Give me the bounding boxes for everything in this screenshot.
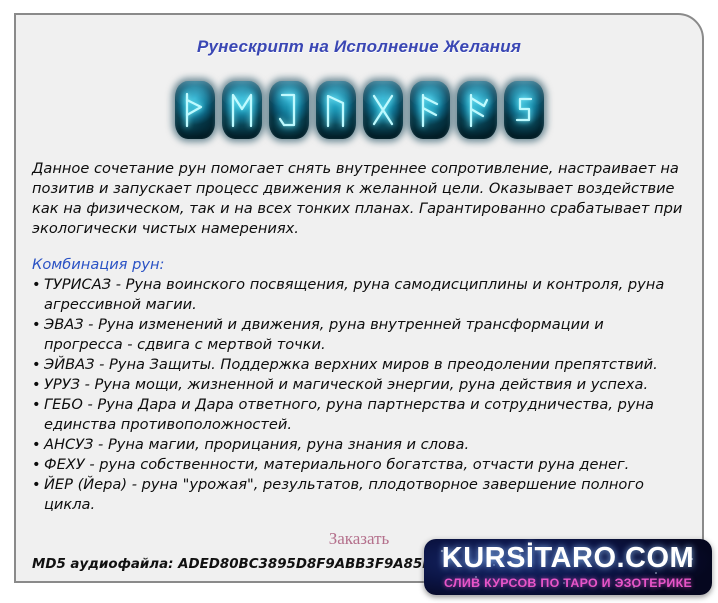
rune-stone-fehu <box>457 81 497 139</box>
list-item: ЭЙВАЗ - Руна Защиты. Поддержка верхних м… <box>32 355 686 375</box>
rune-stone-jera <box>504 81 544 139</box>
list-item: УРУЗ - Руна мощи, жизненной и магической… <box>32 375 686 395</box>
thurisaz-rune-icon <box>182 92 208 128</box>
watermark-main-text: KURSİTARO.COM <box>424 541 712 575</box>
order-link[interactable]: Заказать <box>329 529 390 548</box>
fehu-rune-icon <box>464 92 490 128</box>
list-item: ЭВАЗ - Руна изменений и движения, руна в… <box>32 315 686 355</box>
list-item: ГЕБО - Руна Дара и Дара ответного, руна … <box>32 395 686 435</box>
rune-stone-eihwaz <box>269 81 309 139</box>
rune-stone-ansuz <box>410 81 450 139</box>
list-item: ЙЕР (Йера) - руна "урожая", результатов,… <box>32 475 686 515</box>
rune-stone-thurisaz <box>175 81 215 139</box>
list-item: АНСУЗ - Руна магии, прорицания, руна зна… <box>32 435 686 455</box>
ansuz-rune-icon <box>417 92 443 128</box>
ehwaz-rune-icon <box>229 92 255 128</box>
rune-script-row <box>16 77 702 143</box>
list-item: ТУРИСАЗ - Руна воинского посвящения, рун… <box>32 275 686 315</box>
md5-hash-text: MD5 аудиофайла: ADED80BC3895D8F9ABB3F9A8… <box>32 557 490 572</box>
page-frame: Рунескрипт на Исполнение Желания <box>14 13 704 583</box>
gebo-rune-icon <box>370 92 396 128</box>
combination-heading: Комбинация рун: <box>32 256 686 273</box>
jera-rune-icon <box>511 92 537 128</box>
watermark-sub-text: СЛИВ КУРСОВ ПО ТАРО И ЭЗОТЕРИКЕ <box>424 576 712 590</box>
eihwaz-rune-icon <box>276 92 302 128</box>
description-paragraph: Данное сочетание рун помогает снять внут… <box>32 159 686 239</box>
rune-stone-ehwaz <box>222 81 262 139</box>
kursitaro-watermark-logo: KURSİTARO.COM СЛИВ КУРСОВ ПО ТАРО И ЭЗОТ… <box>424 539 712 595</box>
rune-stone-uruz <box>316 81 356 139</box>
uruz-rune-icon <box>323 92 349 128</box>
rune-meaning-list: ТУРИСАЗ - Руна воинского посвящения, рун… <box>32 275 686 515</box>
page-title: Рунескрипт на Исполнение Желания <box>16 37 702 57</box>
list-item: ФЕХУ - руна собственности, материального… <box>32 455 686 475</box>
rune-stone-gebo <box>363 81 403 139</box>
